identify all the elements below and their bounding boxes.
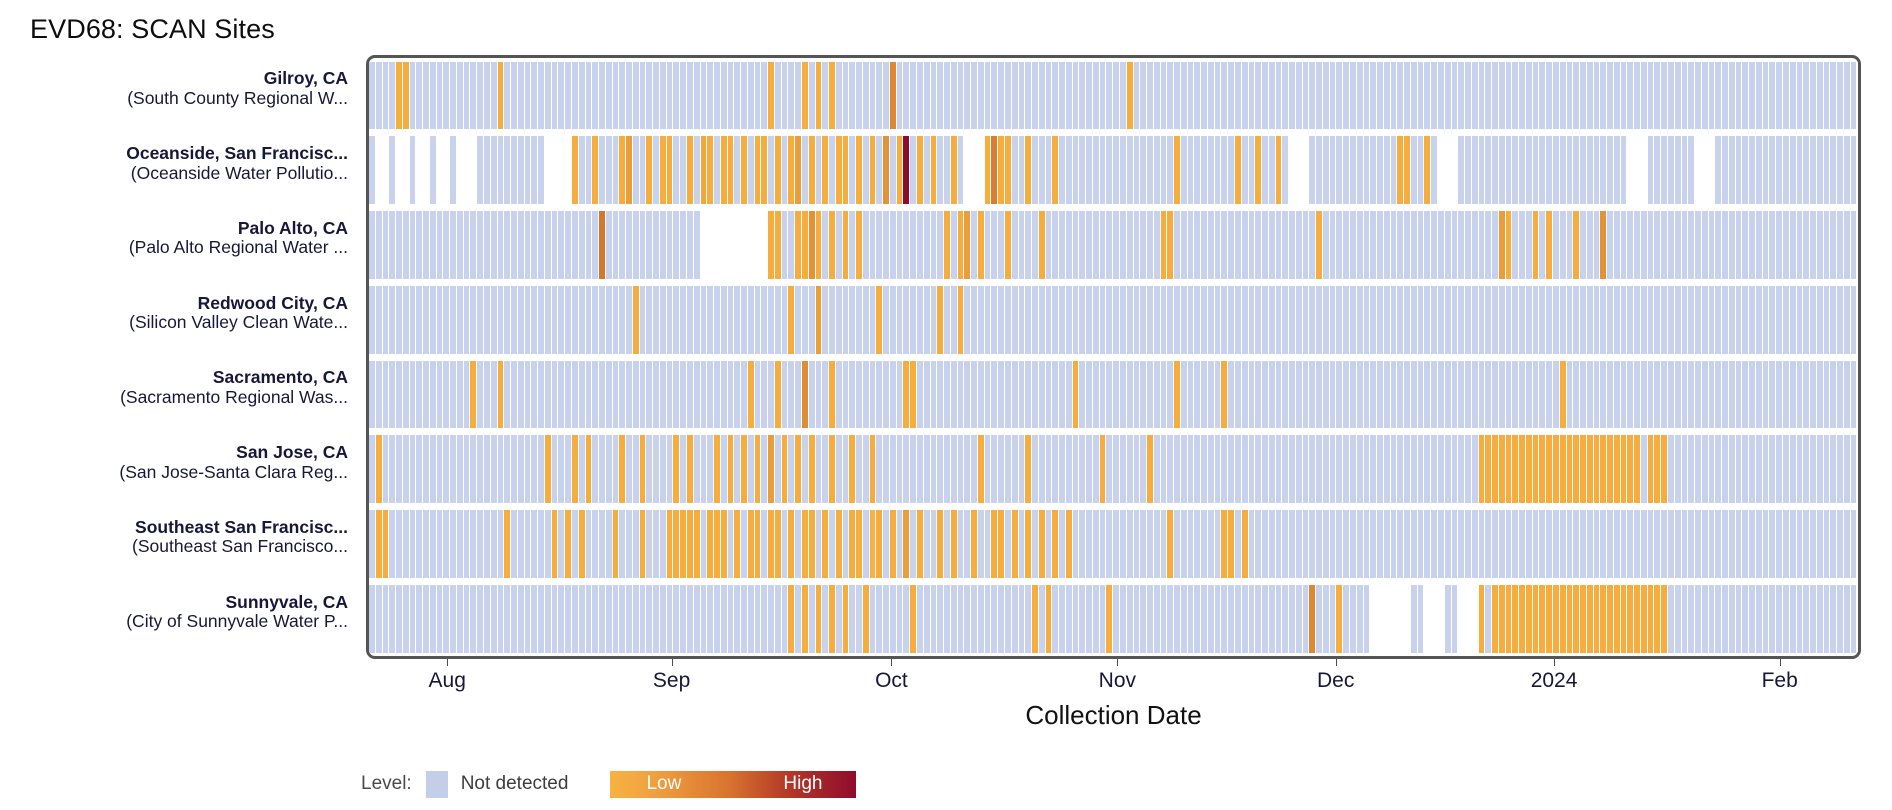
heatmap-cell[interactable]	[633, 510, 640, 578]
heatmap-cell[interactable]	[876, 435, 883, 503]
heatmap-cell[interactable]	[484, 136, 491, 204]
heatmap-cell[interactable]	[1357, 136, 1364, 204]
heatmap-cell[interactable]	[484, 435, 491, 503]
heatmap-cell[interactable]	[1465, 62, 1472, 130]
heatmap-cell[interactable]	[498, 361, 505, 429]
heatmap-cell[interactable]	[1296, 510, 1303, 578]
heatmap-cell[interactable]	[937, 361, 944, 429]
heatmap-cell[interactable]	[1208, 286, 1215, 354]
heatmap-cell[interactable]	[863, 510, 870, 578]
heatmap-cell[interactable]	[1181, 510, 1188, 578]
heatmap-cell[interactable]	[599, 510, 606, 578]
heatmap-cell[interactable]	[1221, 585, 1228, 653]
heatmap-cell[interactable]	[1668, 510, 1675, 578]
heatmap-cell[interactable]	[1567, 510, 1574, 578]
heatmap-cell[interactable]	[964, 435, 971, 503]
heatmap-cell[interactable]	[1134, 211, 1141, 279]
heatmap-cell[interactable]	[991, 510, 998, 578]
heatmap-cell[interactable]	[1756, 211, 1763, 279]
heatmap-cell[interactable]	[1066, 361, 1073, 429]
heatmap-cell[interactable]	[470, 435, 477, 503]
heatmap-cell[interactable]	[1215, 62, 1222, 130]
heatmap-cell[interactable]	[1573, 136, 1580, 204]
heatmap-cell[interactable]	[721, 211, 728, 279]
heatmap-cell[interactable]	[775, 211, 782, 279]
heatmap-cell[interactable]	[917, 62, 924, 130]
heatmap-cell[interactable]	[822, 286, 829, 354]
heatmap-cell[interactable]	[680, 286, 687, 354]
heatmap-cell[interactable]	[1492, 136, 1499, 204]
heatmap-cell[interactable]	[910, 286, 917, 354]
heatmap-cell[interactable]	[687, 62, 694, 130]
heatmap-cell[interactable]	[673, 62, 680, 130]
heatmap-cell[interactable]	[1458, 211, 1465, 279]
heatmap-cell[interactable]	[1824, 435, 1831, 503]
heatmap-cell[interactable]	[464, 62, 471, 130]
heatmap-cell[interactable]	[1316, 62, 1323, 130]
heatmap-cell[interactable]	[1526, 435, 1533, 503]
heatmap-cell[interactable]	[1059, 136, 1066, 204]
heatmap-cell[interactable]	[1763, 585, 1770, 653]
heatmap-cell[interactable]	[389, 361, 396, 429]
heatmap-cell[interactable]	[1066, 211, 1073, 279]
heatmap-cell[interactable]	[985, 361, 992, 429]
heatmap-cell[interactable]	[416, 62, 423, 130]
heatmap-cell[interactable]	[863, 286, 870, 354]
heatmap-cell[interactable]	[1695, 510, 1702, 578]
heatmap-cell[interactable]	[1567, 136, 1574, 204]
heatmap-cell[interactable]	[903, 62, 910, 130]
heatmap-cell[interactable]	[1431, 286, 1438, 354]
heatmap-cell[interactable]	[876, 136, 883, 204]
heatmap-cell[interactable]	[829, 211, 836, 279]
heatmap-cell[interactable]	[1776, 361, 1783, 429]
heatmap-cell[interactable]	[1418, 585, 1425, 653]
heatmap-cell[interactable]	[1837, 585, 1844, 653]
heatmap-cell[interactable]	[558, 62, 565, 130]
heatmap-cell[interactable]	[1384, 286, 1391, 354]
heatmap-cell[interactable]	[1249, 136, 1256, 204]
heatmap-cell[interactable]	[1188, 286, 1195, 354]
heatmap-cell[interactable]	[1736, 211, 1743, 279]
heatmap-cell[interactable]	[1824, 286, 1831, 354]
heatmap-cell[interactable]	[1600, 136, 1607, 204]
heatmap-cell[interactable]	[1086, 136, 1093, 204]
heatmap-cell[interactable]	[1763, 510, 1770, 578]
heatmap-cell[interactable]	[389, 211, 396, 279]
heatmap-cell[interactable]	[863, 361, 870, 429]
heatmap-cell[interactable]	[883, 136, 890, 204]
heatmap-cell[interactable]	[1445, 435, 1452, 503]
heatmap-cell[interactable]	[667, 585, 674, 653]
heatmap-cell[interactable]	[1100, 585, 1107, 653]
heatmap-cell[interactable]	[761, 435, 768, 503]
heatmap-cell[interactable]	[1330, 211, 1337, 279]
heatmap-cell[interactable]	[1648, 136, 1655, 204]
heatmap-cell[interactable]	[1830, 361, 1837, 429]
heatmap-cell[interactable]	[383, 211, 390, 279]
heatmap-cell[interactable]	[667, 286, 674, 354]
heatmap-cell[interactable]	[1621, 286, 1628, 354]
heatmap-cell[interactable]	[714, 136, 721, 204]
heatmap-cell[interactable]	[1654, 211, 1661, 279]
heatmap-cell[interactable]	[985, 62, 992, 130]
heatmap-cell[interactable]	[1296, 286, 1303, 354]
heatmap-cell[interactable]	[464, 211, 471, 279]
heatmap-cell[interactable]	[883, 211, 890, 279]
heatmap-cell[interactable]	[640, 136, 647, 204]
heatmap-cell[interactable]	[1269, 361, 1276, 429]
heatmap-cell[interactable]	[876, 361, 883, 429]
heatmap-cell[interactable]	[1465, 136, 1472, 204]
heatmap-cell[interactable]	[1600, 286, 1607, 354]
heatmap-cell[interactable]	[376, 136, 383, 204]
heatmap-cell[interactable]	[1560, 585, 1567, 653]
heatmap-cell[interactable]	[592, 211, 599, 279]
heatmap-cell[interactable]	[1181, 211, 1188, 279]
heatmap-cell[interactable]	[795, 136, 802, 204]
heatmap-cell[interactable]	[1073, 211, 1080, 279]
heatmap-cell[interactable]	[498, 62, 505, 130]
heatmap-cell[interactable]	[1539, 211, 1546, 279]
heatmap-cell[interactable]	[1235, 585, 1242, 653]
heatmap-cell[interactable]	[1079, 211, 1086, 279]
heatmap-cell[interactable]	[795, 286, 802, 354]
heatmap-cell[interactable]	[1533, 435, 1540, 503]
heatmap-cell[interactable]	[389, 435, 396, 503]
heatmap-cell[interactable]	[1167, 585, 1174, 653]
heatmap-cell[interactable]	[1296, 435, 1303, 503]
heatmap-cell[interactable]	[1255, 510, 1262, 578]
heatmap-cell[interactable]	[721, 361, 728, 429]
heatmap-cell[interactable]	[931, 361, 938, 429]
heatmap-cell[interactable]	[1580, 435, 1587, 503]
heatmap-cell[interactable]	[1154, 585, 1161, 653]
heatmap-cell[interactable]	[376, 435, 383, 503]
heatmap-cell[interactable]	[971, 435, 978, 503]
heatmap-cell[interactable]	[1019, 62, 1026, 130]
heatmap-cell[interactable]	[849, 136, 856, 204]
heatmap-cell[interactable]	[1668, 286, 1675, 354]
heatmap-cell[interactable]	[1790, 211, 1797, 279]
heatmap-cell[interactable]	[1039, 435, 1046, 503]
heatmap-cell[interactable]	[1019, 136, 1026, 204]
heatmap-cell[interactable]	[1797, 286, 1804, 354]
heatmap-cell[interactable]	[1830, 136, 1837, 204]
heatmap-cell[interactable]	[1709, 211, 1716, 279]
heatmap-cell[interactable]	[525, 585, 532, 653]
heatmap-cell[interactable]	[1025, 510, 1032, 578]
heatmap-cell[interactable]	[883, 62, 890, 130]
heatmap-cell[interactable]	[403, 435, 410, 503]
heatmap-cell[interactable]	[1722, 136, 1729, 204]
heatmap-cell[interactable]	[903, 286, 910, 354]
heatmap-cell[interactable]	[1336, 435, 1343, 503]
heatmap-cell[interactable]	[1235, 435, 1242, 503]
heatmap-cell[interactable]	[910, 361, 917, 429]
heatmap-cell[interactable]	[1756, 435, 1763, 503]
heatmap-cell[interactable]	[883, 435, 890, 503]
heatmap-cell[interactable]	[443, 211, 450, 279]
heatmap-cell[interactable]	[1465, 435, 1472, 503]
heatmap-cell[interactable]	[1418, 361, 1425, 429]
heatmap-cell[interactable]	[1046, 62, 1053, 130]
heatmap-cell[interactable]	[1627, 510, 1634, 578]
heatmap-cell[interactable]	[1194, 435, 1201, 503]
heatmap-cell[interactable]	[1641, 435, 1648, 503]
heatmap-cell[interactable]	[991, 286, 998, 354]
heatmap-cell[interactable]	[1519, 510, 1526, 578]
heatmap-cell[interactable]	[728, 62, 735, 130]
heatmap-cell[interactable]	[410, 585, 417, 653]
heatmap-cell[interactable]	[545, 435, 552, 503]
heatmap-cell[interactable]	[958, 510, 965, 578]
heatmap-cell[interactable]	[1445, 361, 1452, 429]
heatmap-cell[interactable]	[1201, 435, 1208, 503]
heatmap-cell[interactable]	[856, 62, 863, 130]
heatmap-cell[interactable]	[1445, 585, 1452, 653]
heatmap-cell[interactable]	[1479, 585, 1486, 653]
heatmap-cell[interactable]	[1614, 286, 1621, 354]
heatmap-cell[interactable]	[1709, 62, 1716, 130]
heatmap-cell[interactable]	[1452, 435, 1459, 503]
heatmap-cell[interactable]	[1249, 435, 1256, 503]
heatmap-cell[interactable]	[1756, 361, 1763, 429]
heatmap-cell[interactable]	[1404, 361, 1411, 429]
heatmap-cell[interactable]	[1282, 62, 1289, 130]
heatmap-cell[interactable]	[1587, 211, 1594, 279]
heatmap-cell[interactable]	[572, 361, 579, 429]
heatmap-cell[interactable]	[1688, 211, 1695, 279]
heatmap-cell[interactable]	[734, 361, 741, 429]
heatmap-cell[interactable]	[403, 585, 410, 653]
heatmap-cell[interactable]	[1797, 361, 1804, 429]
heatmap-cell[interactable]	[1797, 510, 1804, 578]
heatmap-cell[interactable]	[822, 510, 829, 578]
heatmap-cell[interactable]	[518, 286, 525, 354]
heatmap-cell[interactable]	[1499, 361, 1506, 429]
heatmap-cell[interactable]	[809, 510, 816, 578]
heatmap-cell[interactable]	[1810, 510, 1817, 578]
heatmap-cell[interactable]	[1019, 585, 1026, 653]
heatmap-cell[interactable]	[1134, 361, 1141, 429]
heatmap-cell[interactable]	[1560, 510, 1567, 578]
heatmap-cell[interactable]	[1695, 361, 1702, 429]
heatmap-cell[interactable]	[1127, 361, 1134, 429]
heatmap-cell[interactable]	[1188, 510, 1195, 578]
heatmap-cell[interactable]	[1167, 211, 1174, 279]
heatmap-cell[interactable]	[626, 510, 633, 578]
heatmap-cell[interactable]	[1824, 136, 1831, 204]
heatmap-cell[interactable]	[951, 435, 958, 503]
heatmap-cell[interactable]	[1817, 510, 1824, 578]
heatmap-cell[interactable]	[1127, 211, 1134, 279]
heatmap-cell[interactable]	[1729, 136, 1736, 204]
heatmap-cell[interactable]	[619, 510, 626, 578]
heatmap-cell[interactable]	[1526, 62, 1533, 130]
heatmap-cell[interactable]	[1113, 585, 1120, 653]
heatmap-cell[interactable]	[1282, 136, 1289, 204]
heatmap-cell[interactable]	[951, 62, 958, 130]
heatmap-cell[interactable]	[1032, 211, 1039, 279]
heatmap-cell[interactable]	[1100, 510, 1107, 578]
heatmap-cell[interactable]	[1147, 136, 1154, 204]
heatmap-cell[interactable]	[1147, 286, 1154, 354]
heatmap-cell[interactable]	[721, 62, 728, 130]
heatmap-cell[interactable]	[1736, 286, 1743, 354]
heatmap-cell[interactable]	[1228, 435, 1235, 503]
heatmap-cell[interactable]	[1086, 211, 1093, 279]
heatmap-cell[interactable]	[613, 136, 620, 204]
heatmap-cell[interactable]	[1370, 585, 1377, 653]
heatmap-cell[interactable]	[464, 136, 471, 204]
heatmap-cell[interactable]	[802, 286, 809, 354]
heatmap-cell[interactable]	[1573, 62, 1580, 130]
heatmap-cell[interactable]	[1377, 585, 1384, 653]
heatmap-cell[interactable]	[552, 361, 559, 429]
heatmap-cell[interactable]	[1364, 510, 1371, 578]
heatmap-cell[interactable]	[1289, 361, 1296, 429]
heatmap-cell[interactable]	[1641, 62, 1648, 130]
heatmap-cell[interactable]	[1776, 435, 1783, 503]
heatmap-cell[interactable]	[1350, 211, 1357, 279]
heatmap-cell[interactable]	[1391, 435, 1398, 503]
heatmap-cell[interactable]	[721, 510, 728, 578]
heatmap-cell[interactable]	[1120, 361, 1127, 429]
heatmap-cell[interactable]	[1567, 435, 1574, 503]
heatmap-cell[interactable]	[1391, 361, 1398, 429]
heatmap-cell[interactable]	[1370, 211, 1377, 279]
heatmap-cell[interactable]	[768, 62, 775, 130]
heatmap-cell[interactable]	[1147, 62, 1154, 130]
heatmap-cell[interactable]	[816, 136, 823, 204]
heatmap-cell[interactable]	[1465, 361, 1472, 429]
heatmap-cell[interactable]	[1147, 510, 1154, 578]
heatmap-cell[interactable]	[646, 286, 653, 354]
heatmap-cell[interactable]	[1668, 136, 1675, 204]
heatmap-cell[interactable]	[707, 510, 714, 578]
heatmap-cell[interactable]	[1012, 585, 1019, 653]
heatmap-cell[interactable]	[680, 211, 687, 279]
heatmap-cell[interactable]	[1370, 136, 1377, 204]
heatmap-cell[interactable]	[626, 435, 633, 503]
heatmap-cell[interactable]	[1790, 136, 1797, 204]
heatmap-cell[interactable]	[1228, 211, 1235, 279]
heatmap-cell[interactable]	[470, 62, 477, 130]
heatmap-cell[interactable]	[721, 136, 728, 204]
heatmap-cell[interactable]	[1722, 211, 1729, 279]
heatmap-cell[interactable]	[376, 585, 383, 653]
heatmap-cell[interactable]	[1262, 286, 1269, 354]
heatmap-cell[interactable]	[531, 585, 538, 653]
heatmap-cell[interactable]	[1086, 585, 1093, 653]
heatmap-cell[interactable]	[383, 435, 390, 503]
heatmap-cell[interactable]	[816, 62, 823, 130]
heatmap-cell[interactable]	[1580, 62, 1587, 130]
heatmap-cell[interactable]	[423, 62, 430, 130]
heatmap-cell[interactable]	[646, 435, 653, 503]
heatmap-cell[interactable]	[1682, 510, 1689, 578]
heatmap-cell[interactable]	[1269, 136, 1276, 204]
heatmap-cell[interactable]	[1851, 435, 1858, 503]
heatmap-cell[interactable]	[1242, 136, 1249, 204]
heatmap-cell[interactable]	[1749, 585, 1756, 653]
heatmap-cell[interactable]	[741, 510, 748, 578]
heatmap-cell[interactable]	[687, 286, 694, 354]
heatmap-cell[interactable]	[1783, 286, 1790, 354]
heatmap-cell[interactable]	[1046, 211, 1053, 279]
heatmap-cell[interactable]	[1715, 286, 1722, 354]
heatmap-cell[interactable]	[1336, 585, 1343, 653]
heatmap-cell[interactable]	[1418, 62, 1425, 130]
heatmap-cell[interactable]	[903, 136, 910, 204]
heatmap-cell[interactable]	[423, 211, 430, 279]
heatmap-cell[interactable]	[734, 510, 741, 578]
heatmap-cell[interactable]	[991, 435, 998, 503]
heatmap-cell[interactable]	[836, 435, 843, 503]
heatmap-cell[interactable]	[619, 585, 626, 653]
heatmap-cell[interactable]	[1140, 136, 1147, 204]
heatmap-cell[interactable]	[1079, 435, 1086, 503]
heatmap-cell[interactable]	[768, 286, 775, 354]
heatmap-cell[interactable]	[924, 62, 931, 130]
heatmap-cell[interactable]	[1594, 585, 1601, 653]
heatmap-cell[interactable]	[1208, 361, 1215, 429]
heatmap-cell[interactable]	[1255, 136, 1262, 204]
heatmap-cell[interactable]	[849, 211, 856, 279]
heatmap-cell[interactable]	[870, 211, 877, 279]
heatmap-cell[interactable]	[633, 435, 640, 503]
heatmap-cell[interactable]	[1553, 286, 1560, 354]
heatmap-cell[interactable]	[1120, 62, 1127, 130]
heatmap-cell[interactable]	[1600, 62, 1607, 130]
heatmap-cell[interactable]	[416, 136, 423, 204]
heatmap-cell[interactable]	[1654, 510, 1661, 578]
heatmap-cell[interactable]	[1228, 510, 1235, 578]
heatmap-cell[interactable]	[443, 136, 450, 204]
heatmap-cell[interactable]	[978, 510, 985, 578]
heatmap-cell[interactable]	[1729, 435, 1736, 503]
heatmap-cell[interactable]	[1364, 361, 1371, 429]
heatmap-cell[interactable]	[897, 136, 904, 204]
heatmap-cell[interactable]	[1066, 435, 1073, 503]
heatmap-cell[interactable]	[775, 62, 782, 130]
heatmap-cell[interactable]	[1154, 211, 1161, 279]
heatmap-cell[interactable]	[1377, 510, 1384, 578]
heatmap-cell[interactable]	[504, 211, 511, 279]
heatmap-cell[interactable]	[1364, 136, 1371, 204]
heatmap-cell[interactable]	[1695, 286, 1702, 354]
heatmap-cell[interactable]	[1431, 62, 1438, 130]
heatmap-cell[interactable]	[917, 361, 924, 429]
heatmap-cell[interactable]	[383, 286, 390, 354]
heatmap-cell[interactable]	[890, 136, 897, 204]
heatmap-cell[interactable]	[1391, 585, 1398, 653]
heatmap-cell[interactable]	[1506, 136, 1513, 204]
heatmap-cell[interactable]	[667, 211, 674, 279]
heatmap-cell[interactable]	[1377, 211, 1384, 279]
heatmap-cell[interactable]	[545, 136, 552, 204]
heatmap-cell[interactable]	[1066, 62, 1073, 130]
heatmap-cell[interactable]	[1052, 136, 1059, 204]
heatmap-cell[interactable]	[1506, 585, 1513, 653]
heatmap-cell[interactable]	[1465, 211, 1472, 279]
heatmap-cell[interactable]	[768, 585, 775, 653]
heatmap-cell[interactable]	[1127, 585, 1134, 653]
heatmap-cell[interactable]	[660, 211, 667, 279]
heatmap-cell[interactable]	[849, 361, 856, 429]
heatmap-cell[interactable]	[1512, 585, 1519, 653]
